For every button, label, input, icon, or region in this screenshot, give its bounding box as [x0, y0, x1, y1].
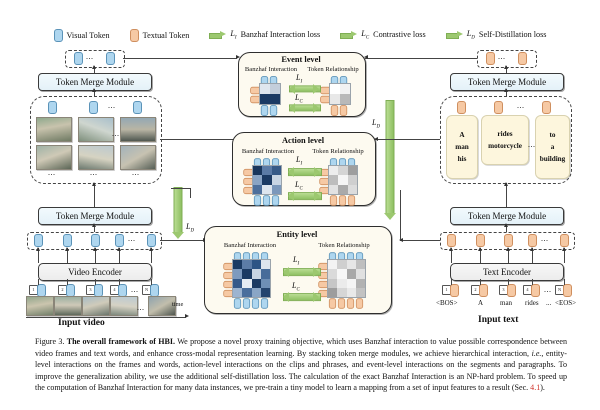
event-banzhaf-loss-label: LI: [296, 73, 302, 85]
connector-words-up-2: [480, 279, 481, 285]
textual-token-icon: [479, 284, 488, 297]
matrix-cell: [261, 260, 270, 269]
matrix-cell: [338, 185, 347, 194]
event-relationship-subtitle: Token Relationship: [302, 66, 364, 73]
entity-banzhaf-subtitle: Banzhaf Interaction: [206, 242, 294, 249]
matrix-cell: [242, 279, 251, 288]
module-label: Video Encoder: [68, 267, 122, 277]
matrix-cell: [348, 166, 357, 175]
matrix-cell: [233, 269, 242, 278]
matrix-cell: [337, 269, 346, 278]
ellipsis: ...: [48, 168, 56, 177]
matrix-cell: [252, 269, 261, 278]
matrix-cell: [233, 288, 242, 297]
textual-token-icon: [504, 234, 513, 247]
event-contrastive-loss-arrow: [289, 103, 319, 112]
legend-sym-banzhaf: LI: [230, 29, 236, 41]
matrix-cell: [261, 279, 270, 288]
entity-banzhaf-matrix: [232, 259, 271, 298]
input-token-text: man: [500, 299, 512, 307]
matrix-cell: [252, 279, 261, 288]
event-banzhaf-matrix: [259, 83, 281, 105]
entity-contrastive-loss-label: LC: [292, 281, 300, 293]
arrow-head-icon: [117, 247, 121, 251]
textual-token-icon: [528, 234, 537, 247]
textual-token-icon: [329, 298, 336, 308]
matrix-cell: [233, 260, 242, 269]
matrix-cell: [329, 175, 338, 184]
visual-token-icon: [261, 298, 268, 308]
action-banzhaf-subtitle: Banzhaf Interaction: [234, 148, 302, 155]
visual-token-icon: [147, 234, 156, 247]
matrix-cell: [328, 260, 337, 269]
arrow-head-icon: [504, 182, 508, 186]
figure-caption: Figure 3. The overall framework of HBI. …: [35, 336, 567, 394]
arrow-head-icon: [504, 223, 508, 227]
input-token-text: <BOS>: [436, 299, 458, 307]
visual-token-icon: [243, 298, 250, 308]
module-label: Token Merge Module: [468, 211, 546, 221]
matrix-cell: [242, 288, 251, 297]
event-banzhaf-subtitle: Banzhaf Interaction: [240, 66, 302, 73]
action-relationship-subtitle: Token Relationship: [304, 148, 372, 155]
connector-word-to-entity-v: [400, 190, 401, 240]
phrase-word: to: [550, 131, 556, 139]
arrow-head-icon: [92, 182, 96, 186]
action-banzhaf-loss-label: LI: [296, 155, 302, 167]
phrase-word: rides: [497, 130, 512, 138]
connector-clip-to-action: [160, 139, 237, 140]
ellipsis: ...: [541, 234, 549, 243]
matrix-cell: [330, 94, 340, 104]
textual-token-icon: [331, 105, 338, 116]
textual-token-icon: [542, 101, 551, 114]
action-banzhaf-matrix: [252, 165, 282, 195]
ellipsis: ...: [86, 52, 94, 61]
legend: Visual Token Textual Token LI Banzhaf In…: [0, 24, 600, 46]
connector-word-to-entity: [400, 240, 440, 241]
caption-body-3: ).: [540, 383, 545, 392]
arrow-head-icon: [504, 65, 508, 69]
module-label: Token Merge Module: [56, 77, 134, 87]
entity-level-title: Entity level: [204, 230, 390, 239]
visual-token-icon: [115, 234, 124, 247]
connector-paragraph-to-event: [365, 58, 477, 59]
ellipsis: ...: [112, 129, 120, 138]
connector-words-up-4: [532, 279, 533, 285]
distill-loss-label-right: LD: [372, 118, 380, 130]
matrix-cell: [337, 260, 346, 269]
connector-tmm4-up: [506, 183, 507, 207]
video-frame-thumbnail: [36, 145, 72, 170]
visual-token-icon: [34, 234, 43, 247]
caption-section-ref[interactable]: 4.1: [530, 383, 540, 392]
matrix-cell: [253, 166, 262, 175]
module-label: Token Merge Module: [468, 77, 546, 87]
matrix-cell: [347, 269, 356, 278]
visual-token-icon: [133, 101, 142, 114]
connector-phrase-to-action: [375, 139, 440, 140]
textual-token-icon: [494, 101, 503, 114]
ellipsis: ...: [137, 303, 145, 312]
connector-frames-up-5: [151, 279, 152, 285]
action-contrastive-loss-arrow: [288, 191, 320, 201]
connector-frames-up-1: [38, 279, 39, 285]
matrix-cell: [340, 94, 350, 104]
arrow-head-icon: [504, 88, 508, 92]
phrase-box: rides motorcycle: [481, 115, 529, 165]
matrix-cell: [348, 185, 357, 194]
legend-label-textual-token: Textual Token: [143, 31, 190, 40]
input-video-frame: [82, 296, 110, 316]
legend-label-contrastive-loss: Contrastive loss: [373, 30, 426, 39]
legend-label-distillation-loss: Self-Distillation loss: [479, 30, 547, 39]
arrow-head-icon: [93, 247, 97, 251]
legend-label-banzhaf-loss: Banzhaf Interaction loss: [241, 30, 321, 39]
arrow-head-icon: [185, 314, 189, 318]
textual-token-icon: [531, 284, 540, 297]
ellipsis: ...: [544, 285, 552, 294]
arrow-head-icon: [36, 247, 40, 251]
input-video-frame: [110, 296, 138, 316]
time-axis-label: time: [172, 301, 183, 308]
action-banzhaf-loss-arrow: [288, 167, 320, 177]
connector-words-up-3: [508, 279, 509, 285]
textual-token-icon: [338, 298, 345, 308]
visual-token-icon: [272, 195, 279, 205]
matrix-cell: [356, 279, 365, 288]
event-contrastive-loss-label: LC: [295, 93, 303, 105]
time-axis: [26, 317, 186, 318]
matrix-cell: [272, 166, 281, 175]
input-video-frame: [26, 296, 54, 316]
self-distillation-arrow-left: [171, 187, 185, 239]
connector-words-up-5: [564, 279, 565, 285]
video-frame-thumbnail: [78, 117, 114, 142]
textual-token-icon: [330, 195, 337, 205]
legend-sym-contrastive: LC: [361, 29, 369, 41]
caption-bold-title: The overall framework of HBI.: [67, 337, 175, 346]
green-arrow-icon: [446, 31, 463, 38]
matrix-cell: [262, 185, 271, 194]
matrix-cell: [242, 260, 251, 269]
visual-token-icon: [234, 298, 241, 308]
textual-token-icon: [447, 234, 456, 247]
matrix-cell: [356, 260, 365, 269]
arrow-head-icon: [530, 247, 534, 251]
phrase-box: to a building: [535, 115, 570, 179]
entity-banzhaf-loss-label: LI: [293, 255, 299, 267]
visual-token-icon: [263, 195, 270, 205]
ellipsis: ...: [128, 234, 136, 243]
caption-italic: i.e.: [532, 349, 542, 358]
matrix-cell: [233, 279, 242, 288]
legend-item-contrastive-loss: LC Contrastive loss: [340, 29, 426, 41]
matrix-cell: [348, 175, 357, 184]
legend-item-distillation-loss: LD Self-Distillation loss: [446, 29, 547, 41]
arrow-head-icon: [92, 65, 96, 69]
textual-token-icon: [339, 195, 346, 205]
matrix-cell: [272, 185, 281, 194]
legend-item-banzhaf-loss: LI Banzhaf Interaction loss: [209, 29, 320, 41]
textual-token-icon: [560, 234, 569, 247]
connector-segment-to-event: [123, 58, 237, 59]
ellipsis: ...: [131, 285, 139, 294]
green-arrow-icon: [209, 31, 226, 38]
arrow-head-icon: [92, 88, 96, 92]
event-banzhaf-loss-arrow: [289, 84, 319, 93]
entity-banzhaf-loss-arrow: [283, 267, 319, 277]
visual-token-icon: [74, 52, 83, 65]
textual-token-icon: [563, 284, 572, 297]
ellipsis: ...: [108, 101, 116, 110]
visual-token-icon: [48, 101, 57, 114]
matrix-cell: [356, 288, 365, 297]
matrix-cell: [252, 260, 261, 269]
matrix-cell: [272, 175, 281, 184]
entity-contrastive-loss-arrow: [283, 292, 319, 302]
matrix-cell: [338, 166, 347, 175]
textual-token-icon: [457, 101, 466, 114]
connector-frames-up-2: [67, 279, 68, 285]
legend-label-visual-token: Visual Token: [67, 31, 110, 40]
matrix-cell: [261, 269, 270, 278]
matrix-cell: [261, 288, 270, 297]
matrix-cell: [328, 288, 337, 297]
connector-words-up-1: [451, 279, 452, 285]
arrow-head-icon: [478, 247, 482, 251]
textual-token-icon: [507, 284, 516, 297]
ellipsis: ...: [517, 101, 525, 110]
event-relationship-matrix: [329, 83, 351, 105]
action-contrastive-loss-label: LC: [295, 180, 303, 192]
textual-token-icon: [130, 29, 139, 42]
matrix-cell: [270, 84, 280, 94]
phrase-box: A man his: [446, 115, 478, 179]
matrix-cell: [270, 94, 280, 104]
connector-tmm2-up: [94, 183, 95, 207]
ellipsis: ...: [132, 168, 140, 177]
visual-token-icon: [63, 234, 72, 247]
ellipsis: ...: [498, 52, 506, 61]
matrix-cell: [329, 166, 338, 175]
distill-hook-left: [171, 188, 191, 189]
visual-token-icon: [54, 29, 63, 42]
input-token-text: <EOS>: [555, 299, 576, 307]
connector-frame-to-entity: [160, 240, 204, 241]
entity-relationship-subtitle: Token Relationship: [300, 242, 388, 249]
video-frame-thumbnail: [120, 117, 156, 142]
matrix-cell: [329, 185, 338, 194]
video-frame-thumbnail: [78, 145, 114, 170]
matrix-cell: [260, 84, 270, 94]
textual-token-icon: [476, 234, 485, 247]
arrow-head-icon: [506, 247, 510, 251]
matrix-cell: [242, 269, 251, 278]
arrow-head-icon: [364, 55, 368, 59]
phrase-word: motorcycle: [488, 142, 522, 150]
video-frame-thumbnail: [36, 117, 72, 142]
video-frame-thumbnail: [120, 145, 156, 170]
legend-item-textual-token: Textual Token: [130, 29, 190, 42]
distill-loss-label-left: LD: [186, 222, 194, 234]
input-text-label: Input text: [478, 315, 518, 325]
input-token-text: ...: [546, 299, 551, 307]
matrix-cell: [328, 279, 337, 288]
matrix-cell: [347, 260, 356, 269]
input-token-text: A: [478, 299, 483, 307]
matrix-cell: [347, 279, 356, 288]
event-level-title: Event level: [238, 55, 364, 64]
entity-relationship-matrix: [327, 259, 366, 298]
matrix-cell: [337, 288, 346, 297]
matrix-cell: [328, 269, 337, 278]
arrow-head-icon: [374, 137, 378, 141]
arrow-head-icon: [149, 247, 153, 251]
phrase-word: a: [551, 143, 555, 151]
textual-token-icon: [486, 52, 495, 65]
matrix-cell: [262, 166, 271, 175]
matrix-cell: [338, 175, 347, 184]
visual-token-icon: [252, 298, 259, 308]
visual-token-icon: [91, 234, 100, 247]
matrix-cell: [340, 84, 350, 94]
visual-token-icon: [261, 105, 268, 116]
textual-token-icon: [356, 298, 363, 308]
connector-frames-up-4: [119, 279, 120, 285]
distill-hook-left-v: [190, 188, 191, 198]
arrow-head-icon: [92, 223, 96, 227]
input-token-text: rides: [525, 299, 539, 307]
matrix-cell: [252, 288, 261, 297]
input-video-frame: [54, 296, 82, 316]
visual-token-icon: [254, 195, 261, 205]
matrix-cell: [260, 94, 270, 104]
action-level-title: Action level: [232, 136, 374, 145]
arrow-head-icon: [65, 247, 69, 251]
figure-canvas: Visual Token Textual Token LI Banzhaf In…: [0, 0, 600, 332]
matrix-cell: [347, 288, 356, 297]
action-relationship-matrix: [328, 165, 358, 195]
matrix-cell: [262, 175, 271, 184]
matrix-cell: [356, 269, 365, 278]
matrix-cell: [253, 175, 262, 184]
visual-token-icon: [89, 101, 98, 114]
textual-token-icon: [518, 52, 527, 65]
legend-item-visual-token: Visual Token: [54, 29, 110, 42]
visual-token-icon: [270, 105, 277, 116]
module-label: Token Merge Module: [56, 211, 134, 221]
input-video-label: Input video: [58, 318, 105, 328]
phrase-word: his: [458, 155, 467, 163]
textual-token-icon: [348, 195, 355, 205]
caption-prefix: Figure 3.: [35, 337, 67, 346]
matrix-cell: [253, 185, 262, 194]
textual-token-icon: [450, 284, 459, 297]
phrase-word: man: [455, 143, 469, 151]
connector-frames-up-3: [95, 279, 96, 285]
module-label: Text Encoder: [483, 267, 531, 277]
phrase-word: building: [540, 155, 566, 163]
textual-token-icon: [340, 105, 347, 116]
self-distillation-arrow-right: [383, 100, 397, 220]
green-arrow-icon: [340, 31, 357, 38]
textual-token-icon: [347, 298, 354, 308]
arrow-head-icon: [449, 247, 453, 251]
matrix-cell: [337, 279, 346, 288]
phrase-word: A: [459, 131, 464, 139]
matrix-cell: [330, 84, 340, 94]
legend-sym-distill: LD: [467, 29, 475, 41]
visual-token-icon: [106, 52, 115, 65]
ellipsis: ...: [90, 168, 98, 177]
arrow-head-icon: [562, 247, 566, 251]
